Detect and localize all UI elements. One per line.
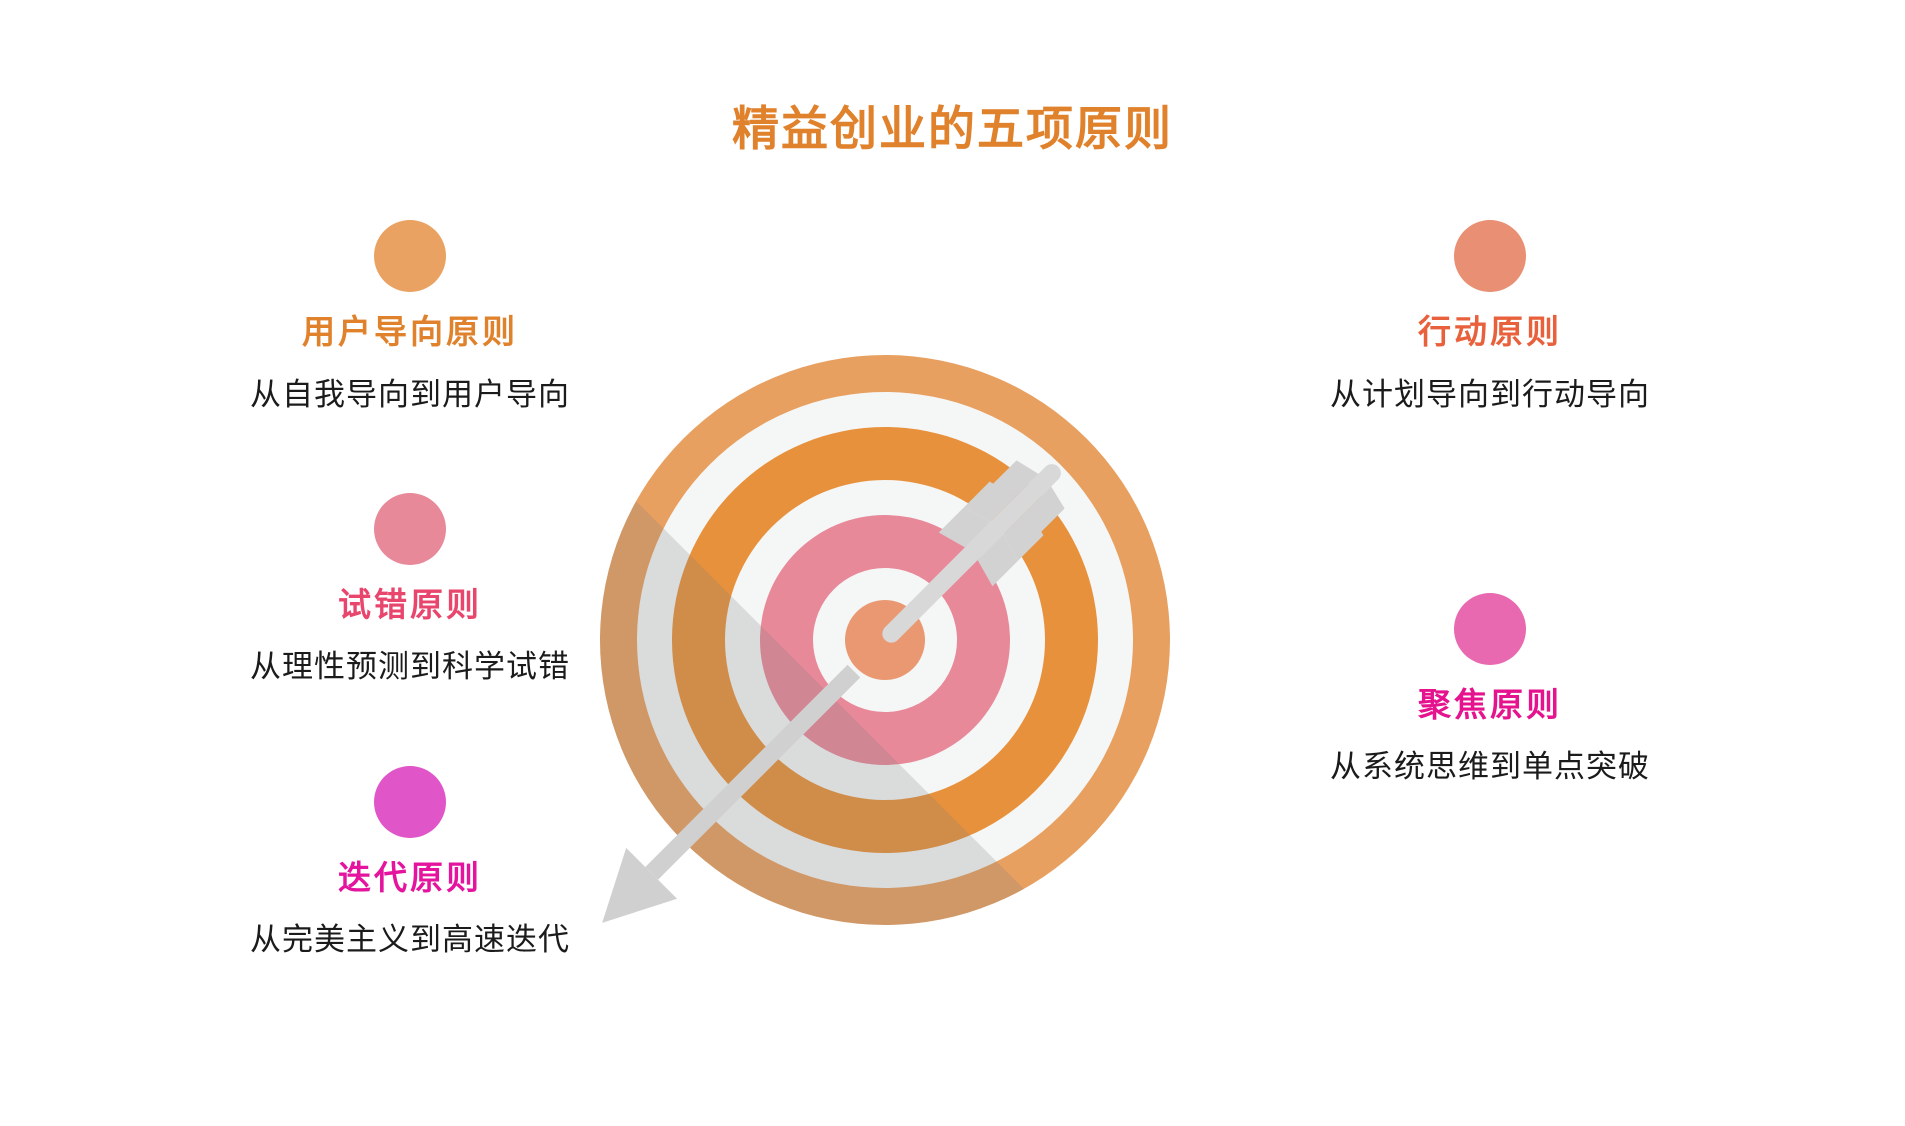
- principle-description: 从自我导向到用户导向: [150, 376, 670, 413]
- principle-description: 从计划导向到行动导向: [1230, 376, 1750, 413]
- circle-dot-icon: [1454, 220, 1526, 292]
- principle-label: 行动原则: [1230, 312, 1750, 352]
- principle-item-focus[interactable]: 聚焦原则 从系统思维到单点突破: [1230, 593, 1750, 846]
- principle-item-user-oriented[interactable]: 用户导向原则 从自我导向到用户导向: [150, 220, 670, 473]
- page-title: 精益创业的五项原则: [0, 90, 1905, 159]
- principle-item-iteration[interactable]: 迭代原则 从完美主义到高速迭代: [150, 766, 670, 1019]
- circle-dot-icon: [1454, 593, 1526, 665]
- bullseye-target-icon: [600, 355, 1170, 935]
- circle-dot-icon: [374, 220, 446, 292]
- principle-label: 迭代原则: [150, 858, 670, 898]
- circle-dot-icon: [374, 766, 446, 838]
- principle-item-action[interactable]: 行动原则 从计划导向到行动导向: [1230, 220, 1750, 473]
- right-principles-column: 行动原则 从计划导向到行动导向 聚焦原则 从系统思维到单点突破: [1230, 220, 1750, 846]
- principle-description: 从系统思维到单点突破: [1230, 748, 1750, 785]
- circle-dot-icon: [374, 493, 446, 565]
- principle-label: 聚焦原则: [1230, 685, 1750, 725]
- infographic-slide: 精益创业的五项原则: [0, 0, 1905, 1126]
- left-principles-column: 用户导向原则 从自我导向到用户导向 试错原则 从理性预测到科学试错 迭代原则 从…: [150, 220, 670, 1018]
- principle-label: 用户导向原则: [150, 312, 670, 352]
- principle-item-trial-and-error[interactable]: 试错原则 从理性预测到科学试错: [150, 493, 670, 746]
- principle-label: 试错原则: [150, 585, 670, 625]
- principle-description: 从理性预测到科学试错: [150, 648, 670, 685]
- principle-description: 从完美主义到高速迭代: [150, 921, 670, 958]
